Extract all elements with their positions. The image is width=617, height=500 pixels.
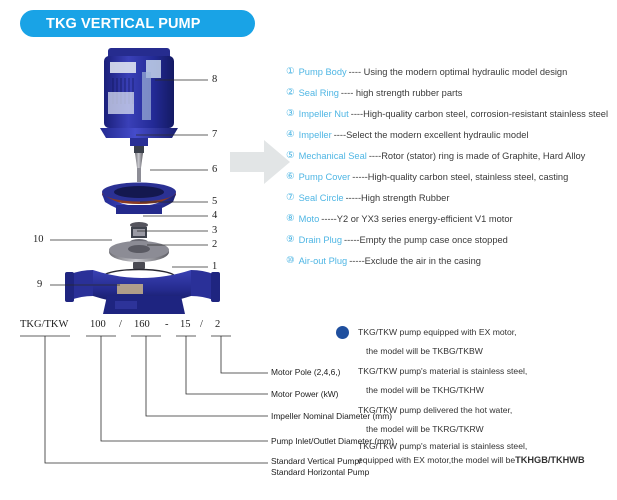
leader-label-standard-vert: Standard Vertical Pump/ — [271, 456, 361, 467]
leader-label-motor-power: Motor Power (kW) — [271, 389, 338, 400]
note-line: the model will be TKHG/TKHW — [358, 381, 617, 401]
note-line-final: equipped with EX motor,the model will be… — [358, 453, 617, 467]
note-line: the model will be TKBG/TKBW — [358, 342, 617, 362]
note-bullet-icon — [336, 326, 349, 339]
note-line: TKG/TKW pump delivered the hot water, — [358, 400, 617, 420]
note-model-bold: TKHGB/TKHWB — [515, 455, 584, 465]
leader-label-motor-pole: Motor Pole (2,4,6,) — [271, 367, 340, 378]
model-variant-notes: TKG/TKW pump equipped with EX motor, the… — [358, 322, 617, 467]
note-line: TKG/TKW pump equipped with EX motor, — [358, 322, 617, 342]
note-line: TKG/TKW pump's material is stainless ste… — [358, 439, 617, 453]
note-line: TKG/TKW pump's material is stainless ste… — [358, 361, 617, 381]
note-line: the model will be TKRG/TKRW — [358, 420, 617, 440]
note-line-text: equipped with EX motor,the model will be — [358, 455, 515, 465]
page-root: TKG VERTICAL PUMP — [0, 0, 617, 500]
leader-label-standard-horiz: Standard Horizontal Pump — [271, 467, 369, 478]
